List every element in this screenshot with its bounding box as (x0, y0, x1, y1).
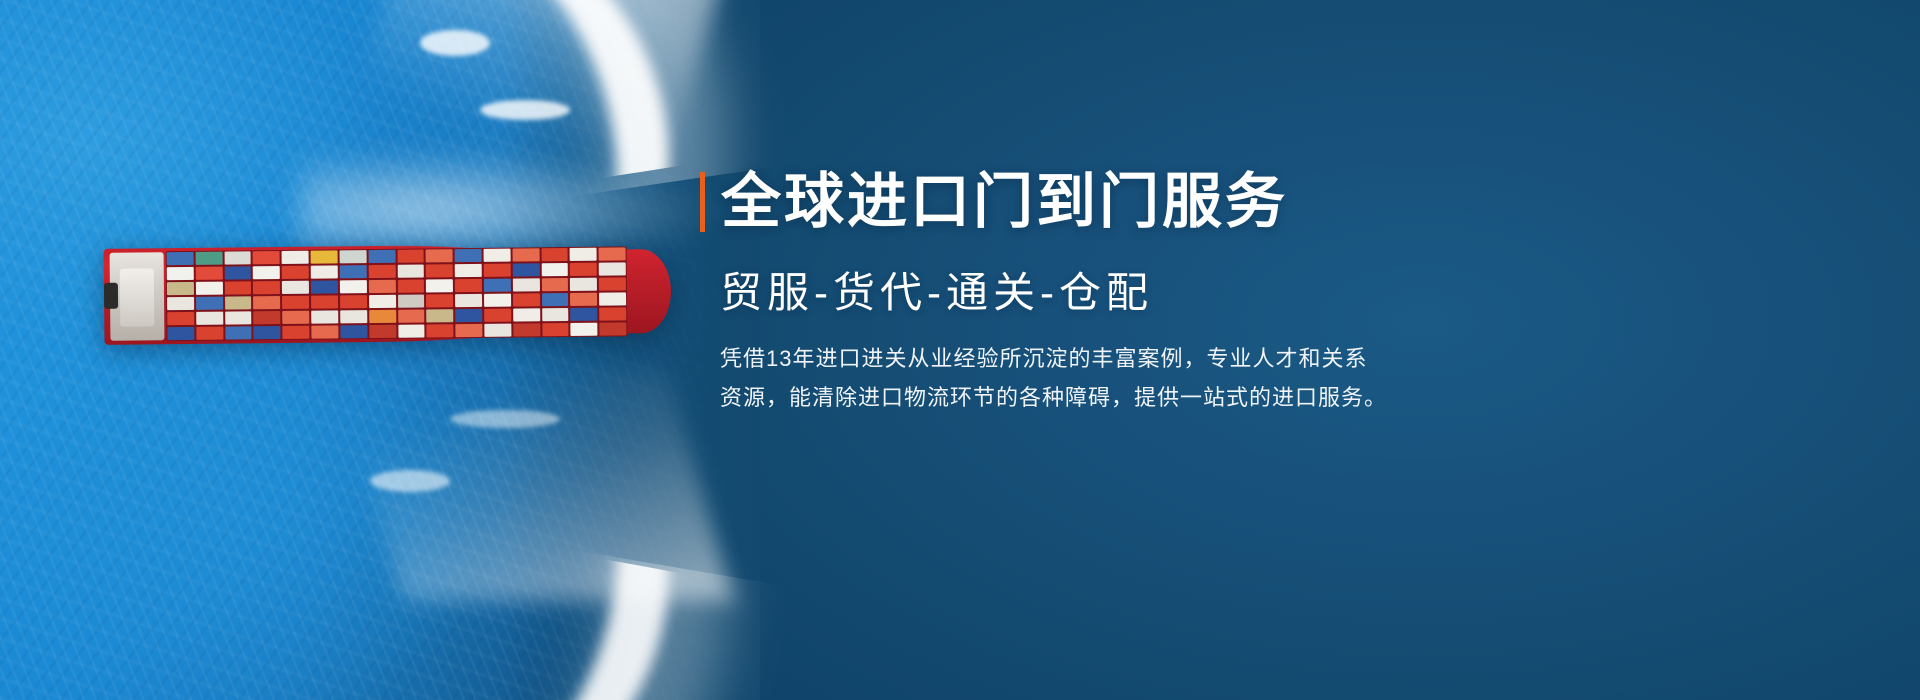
container (455, 249, 482, 263)
container (340, 280, 367, 294)
ship-bridge (120, 268, 155, 326)
container-bay (282, 251, 310, 339)
accent-bar-icon (700, 172, 705, 232)
container (484, 323, 511, 337)
container (311, 325, 338, 339)
container (196, 326, 223, 340)
container (254, 311, 281, 325)
container (368, 250, 395, 264)
container (398, 294, 425, 308)
container (167, 267, 194, 281)
container (455, 294, 482, 308)
container (282, 295, 309, 309)
container (599, 277, 626, 291)
container (340, 265, 367, 279)
container (512, 248, 539, 262)
container (167, 327, 194, 341)
container-bay (368, 250, 396, 338)
container (282, 251, 309, 265)
container (513, 323, 540, 337)
container (570, 248, 597, 262)
container (484, 308, 511, 322)
container (484, 278, 511, 292)
body-description: 凭借13年进口进关从业经验所沉淀的丰富案例，专业人才和关系 资源，能清除进口物流… (720, 340, 1430, 417)
container (225, 296, 252, 310)
container (311, 295, 338, 309)
container (339, 250, 366, 264)
container (253, 251, 280, 265)
container (599, 322, 626, 336)
container (369, 324, 396, 338)
container (196, 281, 223, 295)
container (167, 252, 194, 266)
container (484, 293, 511, 307)
container (282, 266, 309, 280)
container (599, 262, 626, 276)
container-bay (167, 252, 195, 340)
container-deck (166, 246, 628, 341)
container (542, 323, 569, 337)
container (368, 265, 395, 279)
container (398, 309, 425, 323)
container (513, 293, 540, 307)
container (167, 282, 194, 296)
container-bay (224, 251, 252, 339)
container (167, 312, 194, 326)
container (484, 264, 511, 278)
container (426, 279, 453, 293)
headline-row: 全球进口门到门服务 (700, 172, 1288, 232)
container (311, 310, 338, 324)
container-bay (195, 252, 223, 340)
container (426, 264, 453, 278)
container (167, 297, 194, 311)
container (196, 296, 223, 310)
container (571, 307, 598, 321)
container (253, 296, 280, 310)
container-bay (339, 250, 367, 338)
banner-content: 全球进口门到门服务 贸服-货代-通关-仓配 凭借13年进口进关从业经验所沉淀的丰… (700, 0, 1920, 700)
container (455, 279, 482, 293)
container (340, 295, 367, 309)
container (570, 292, 597, 306)
container (224, 251, 251, 265)
container (397, 250, 424, 264)
container (483, 249, 510, 263)
container (195, 252, 222, 266)
hero-banner: 全球进口门到门服务 贸服-货代-通关-仓配 凭借13年进口进关从业经验所沉淀的丰… (0, 0, 1920, 700)
container (541, 248, 568, 262)
container-bay (512, 248, 540, 336)
container (311, 250, 338, 264)
body-line-2: 资源，能清除进口物流环节的各种障碍，提供一站式的进口服务。 (720, 379, 1430, 418)
ocean-background (0, 0, 720, 700)
container (512, 263, 539, 277)
container (599, 292, 626, 306)
container (340, 310, 367, 324)
container (196, 267, 223, 281)
container (541, 278, 568, 292)
container (513, 308, 540, 322)
container (340, 325, 367, 339)
container-bay (397, 250, 425, 338)
container-bay (455, 249, 483, 337)
container (542, 308, 569, 322)
container-ship (104, 243, 650, 345)
ship-funnel (104, 283, 118, 309)
container (542, 293, 569, 307)
container-bay (426, 249, 454, 337)
container (196, 311, 223, 325)
container (224, 266, 251, 280)
container (283, 325, 310, 339)
container (541, 263, 568, 277)
container (599, 307, 626, 321)
container (570, 263, 597, 277)
container (426, 309, 453, 323)
container (311, 280, 338, 294)
container (369, 280, 396, 294)
container (398, 324, 425, 338)
container (225, 311, 252, 325)
container (571, 322, 598, 336)
container (426, 249, 453, 263)
container (311, 265, 338, 279)
container (427, 324, 454, 338)
container (426, 294, 453, 308)
container-bay (253, 251, 281, 339)
container (599, 247, 626, 261)
container (369, 295, 396, 309)
container (225, 326, 252, 340)
subtitle: 贸服-货代-通关-仓配 (720, 272, 1153, 314)
container (455, 309, 482, 323)
container (455, 264, 482, 278)
container-bay (483, 249, 511, 337)
container (369, 309, 396, 323)
container (397, 279, 424, 293)
container (513, 278, 540, 292)
body-line-1: 凭借13年进口进关从业经验所沉淀的丰富案例，专业人才和关系 (720, 340, 1430, 379)
container (253, 266, 280, 280)
container-bay (599, 247, 627, 335)
container (282, 281, 309, 295)
container-bay (311, 250, 339, 338)
container-bay (570, 248, 598, 336)
container (282, 310, 309, 324)
container (224, 281, 251, 295)
page-title: 全球进口门到门服务 (721, 172, 1288, 232)
container (570, 278, 597, 292)
container (397, 264, 424, 278)
container-bay (541, 248, 569, 336)
container (254, 326, 281, 340)
container (455, 324, 482, 338)
container (253, 281, 280, 295)
